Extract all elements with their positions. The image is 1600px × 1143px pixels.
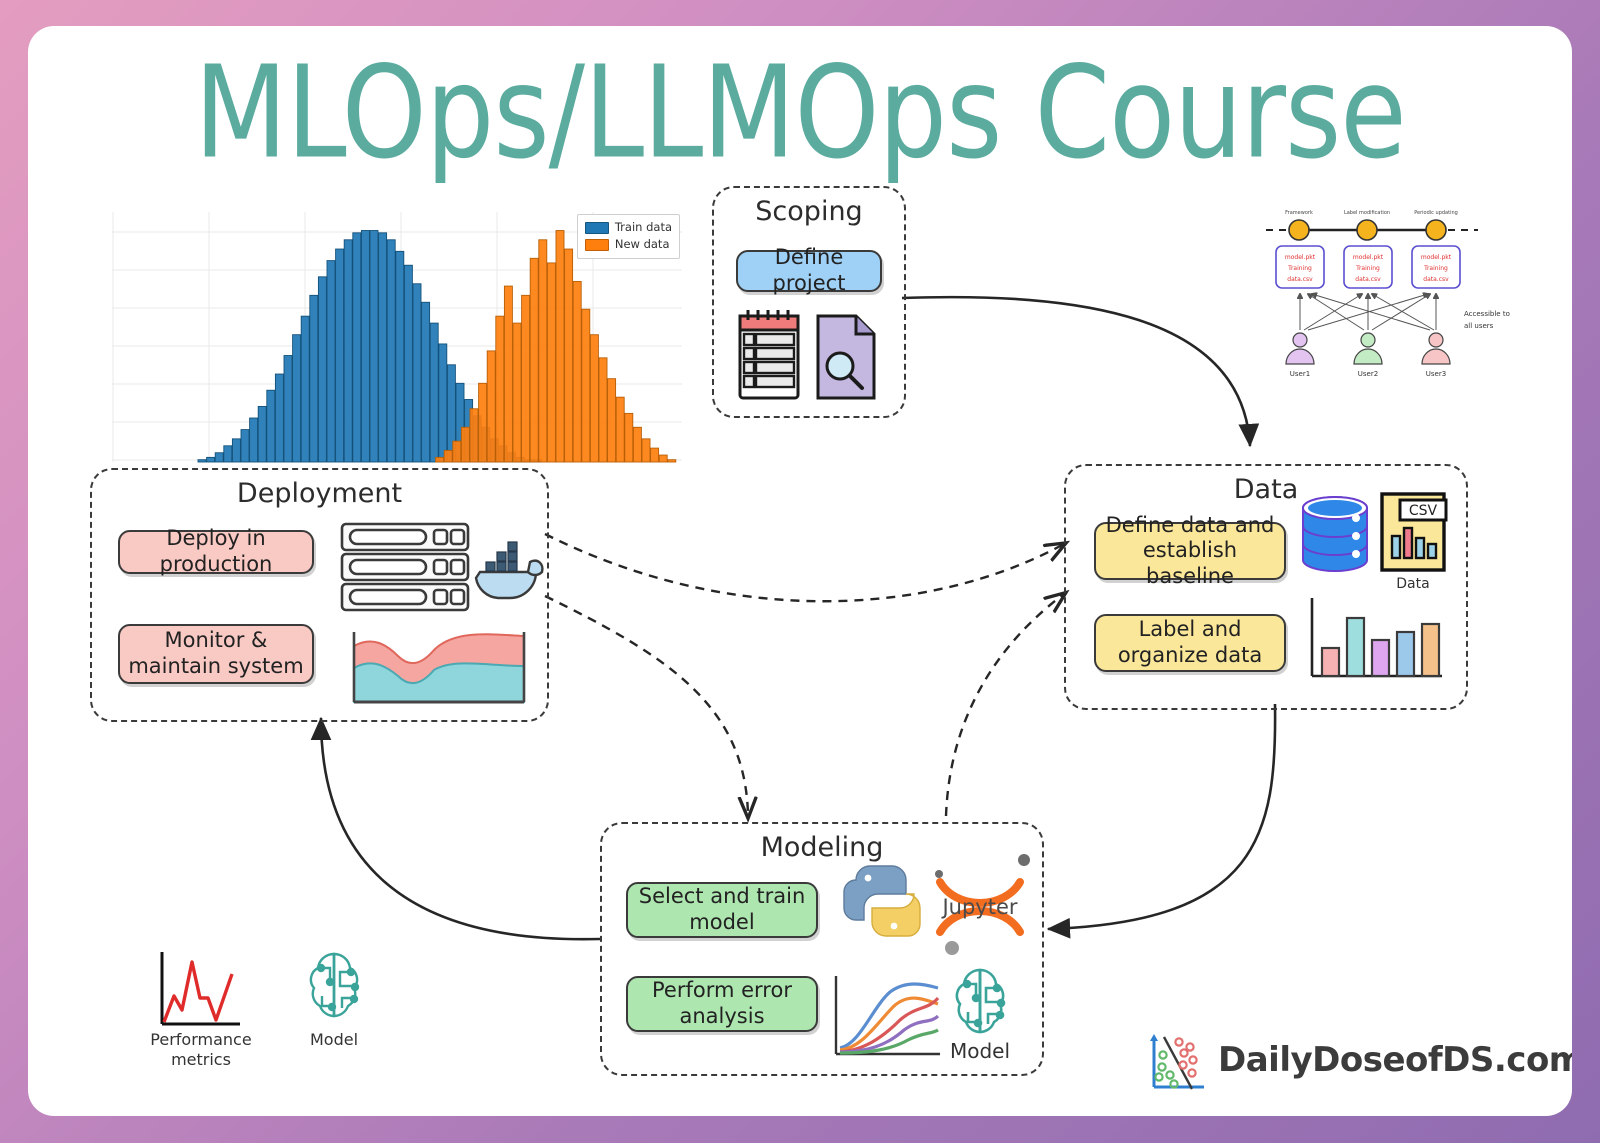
database-icon	[1303, 497, 1367, 571]
svg-text:Training: Training	[1287, 265, 1312, 272]
brand-text: DailyDoseofDS.com	[1218, 1040, 1572, 1080]
deployment-icons	[338, 518, 538, 708]
task-define-data[interactable]: Define data and establish baseline	[1094, 522, 1286, 580]
histogram-bar	[224, 446, 232, 462]
data-icons: CSV Data	[1298, 490, 1458, 690]
arrow-data-to-modeling	[1048, 704, 1275, 929]
notepad-icon	[740, 310, 798, 398]
scatter-classifier-icon	[1146, 1029, 1208, 1091]
brand-logo-group[interactable]: DailyDoseofDS.com	[1146, 1029, 1572, 1091]
user-label-2: User3	[1426, 370, 1446, 378]
performance-metrics-caption-2: metrics	[146, 1050, 256, 1069]
histogram-bar	[310, 295, 318, 462]
svg-text:Training: Training	[1423, 265, 1448, 272]
document-search-icon	[818, 316, 874, 398]
legend-label-train: Train data	[615, 219, 672, 236]
scoping-icons	[734, 306, 894, 406]
legend-label-new: New data	[615, 236, 670, 253]
histogram-bar	[370, 231, 378, 462]
histogram-bar	[293, 335, 301, 462]
histogram-bar	[258, 406, 266, 462]
histogram-bar	[284, 356, 292, 462]
csv-caption: Data	[1396, 576, 1429, 592]
histogram-bar	[590, 335, 598, 462]
histogram-bar	[659, 455, 667, 462]
histogram-bar	[633, 427, 641, 462]
user-connections	[1300, 294, 1436, 330]
timeline-node	[1289, 220, 1309, 240]
svg-text:Accessible to: Accessible to	[1464, 310, 1510, 318]
drift-histogram-chart: Train data New data	[112, 212, 682, 462]
histogram-bar	[513, 323, 521, 462]
area-chart-icon	[354, 632, 524, 702]
modeling-icons: Jupyter Model	[828, 848, 1038, 1068]
histogram-bar	[267, 390, 275, 462]
timeline-node	[1426, 220, 1446, 240]
chart-legend: Train data New data	[577, 214, 680, 259]
user-label-1: User2	[1358, 370, 1378, 378]
server-rack-icon	[342, 524, 468, 610]
histogram-bar	[336, 249, 344, 462]
model-caption: Model	[950, 1039, 1010, 1063]
brain-model-icon	[957, 970, 1004, 1032]
legend-icons-group: Performance metrics Model	[146, 944, 426, 1064]
arrow-scoping-to-data	[902, 297, 1250, 446]
histogram-bar	[496, 316, 504, 462]
performance-metrics-caption-1: Performance	[146, 1030, 256, 1049]
timeline-axis: Framework Label modification Periodic up…	[1266, 210, 1478, 240]
poster-canvas: MLOps/LLMOps Course	[28, 26, 1572, 1116]
histogram-bar	[387, 240, 395, 462]
stage-data[interactable]: Data Define data and establish baseline …	[1064, 464, 1468, 710]
page-title: MLOps/LLMOps Course	[28, 50, 1572, 177]
legend-swatch-train	[585, 222, 609, 234]
histogram-bar	[318, 277, 326, 462]
histogram-bar	[207, 457, 215, 462]
histogram-bar	[301, 316, 309, 462]
data-versioning-diagram: Framework Label modification Periodic up…	[1256, 198, 1484, 378]
task-error-analysis[interactable]: Perform error analysis	[626, 976, 818, 1032]
timeline-label-2: Periodic updating	[1414, 210, 1458, 216]
histogram-bar	[522, 295, 530, 462]
deployment-title: Deployment	[92, 478, 547, 509]
histogram-bar	[250, 418, 258, 462]
histogram-bar	[275, 374, 283, 462]
timeline-label-0: Framework	[1285, 210, 1313, 216]
histogram-bar	[344, 240, 352, 462]
user-label-0: User1	[1290, 370, 1310, 378]
histogram-bar	[430, 323, 438, 462]
histogram-bar	[642, 439, 650, 462]
stage-deployment[interactable]: Deployment Deploy in production Monitor …	[90, 468, 549, 722]
histogram-bar	[444, 450, 452, 462]
svg-text:model.pkt: model.pkt	[1285, 254, 1316, 261]
histogram-bar	[582, 309, 590, 462]
timeline-label-1: Label modification	[1344, 210, 1390, 216]
histogram-bar	[436, 457, 444, 462]
task-deploy-production[interactable]: Deploy in production	[118, 530, 314, 574]
task-monitor-maintain[interactable]: Monitor & maintain system	[118, 624, 314, 684]
histogram-bar	[668, 460, 676, 462]
csv-file-icon: CSV Data	[1382, 494, 1446, 592]
jupyter-logo-icon: Jupyter	[935, 854, 1030, 955]
histogram-bar	[530, 258, 538, 462]
histogram-bar	[651, 448, 659, 462]
histogram-bar	[327, 261, 335, 462]
version-boxes: model.pktTrainingdata.csv model.pktTrain…	[1276, 246, 1460, 288]
arrow-deployment-to-data	[545, 534, 1064, 601]
histogram-bar	[625, 413, 633, 462]
performance-metrics-icon	[162, 952, 240, 1024]
histogram-bar	[215, 453, 223, 462]
arrow-modeling-to-data	[946, 594, 1064, 816]
legend-item-new: New data	[585, 236, 672, 253]
legend-item-train: Train data	[585, 219, 672, 236]
python-logo-icon	[844, 866, 920, 936]
jupyter-label: Jupyter	[940, 895, 1017, 919]
histogram-bar	[556, 231, 564, 462]
csv-badge: CSV	[1409, 503, 1438, 519]
histogram-bar	[404, 265, 412, 462]
histogram-bar	[461, 427, 469, 462]
histogram-bar	[599, 358, 607, 462]
histogram-bar	[422, 302, 430, 462]
stage-modeling[interactable]: Modeling Select and train model Perform …	[600, 822, 1044, 1076]
docker-whale-icon	[476, 542, 542, 598]
svg-text:data.csv: data.csv	[1355, 276, 1381, 283]
task-label-organize[interactable]: Label and organize data	[1094, 614, 1286, 672]
histogram-bar	[539, 240, 547, 462]
svg-text:data.csv: data.csv	[1423, 276, 1449, 283]
histogram-bar	[504, 286, 512, 462]
histogram-bar	[547, 263, 555, 462]
histogram-bar	[379, 233, 387, 462]
histogram-bar	[479, 383, 487, 462]
arrow-deployment-to-modeling	[545, 596, 748, 816]
task-define-project[interactable]: Define project	[736, 250, 882, 292]
line-chart-icon	[836, 976, 940, 1054]
task-select-train[interactable]: Select and train model	[626, 882, 818, 938]
histogram-bar	[453, 441, 461, 462]
histogram-bar	[608, 379, 616, 462]
stage-scoping[interactable]: Scoping Define project	[712, 186, 906, 418]
histogram-bar	[413, 284, 421, 462]
histogram-bar	[573, 281, 581, 462]
histogram-bar	[439, 344, 447, 462]
histogram-bar	[396, 251, 404, 462]
histogram-bar	[616, 397, 624, 462]
svg-text:model.pkt: model.pkt	[1421, 254, 1452, 261]
svg-text:model.pkt: model.pkt	[1353, 254, 1384, 261]
histogram-bar	[487, 351, 495, 462]
histogram-bar	[198, 460, 206, 462]
histogram-bar	[353, 233, 361, 462]
svg-text:all users: all users	[1464, 322, 1494, 330]
histogram-bar	[241, 430, 249, 462]
timeline-node	[1357, 220, 1377, 240]
arrow-modeling-to-deployment	[321, 718, 600, 939]
model-caption-legend: Model	[286, 1030, 382, 1049]
scoping-title: Scoping	[714, 196, 904, 227]
histogram-bar	[232, 439, 240, 462]
histogram-bar	[361, 231, 369, 462]
accessible-annotation: Accessible to all users	[1464, 310, 1510, 330]
bar-chart-icon	[1312, 598, 1442, 676]
svg-text:data.csv: data.csv	[1287, 276, 1313, 283]
histogram-bar	[470, 409, 478, 462]
legend-swatch-new	[585, 239, 609, 251]
brain-model-icon-small	[311, 954, 358, 1016]
svg-text:Training: Training	[1355, 265, 1380, 272]
histogram-bar	[565, 249, 573, 462]
user-avatars: User1 User2 User3	[1286, 333, 1450, 378]
